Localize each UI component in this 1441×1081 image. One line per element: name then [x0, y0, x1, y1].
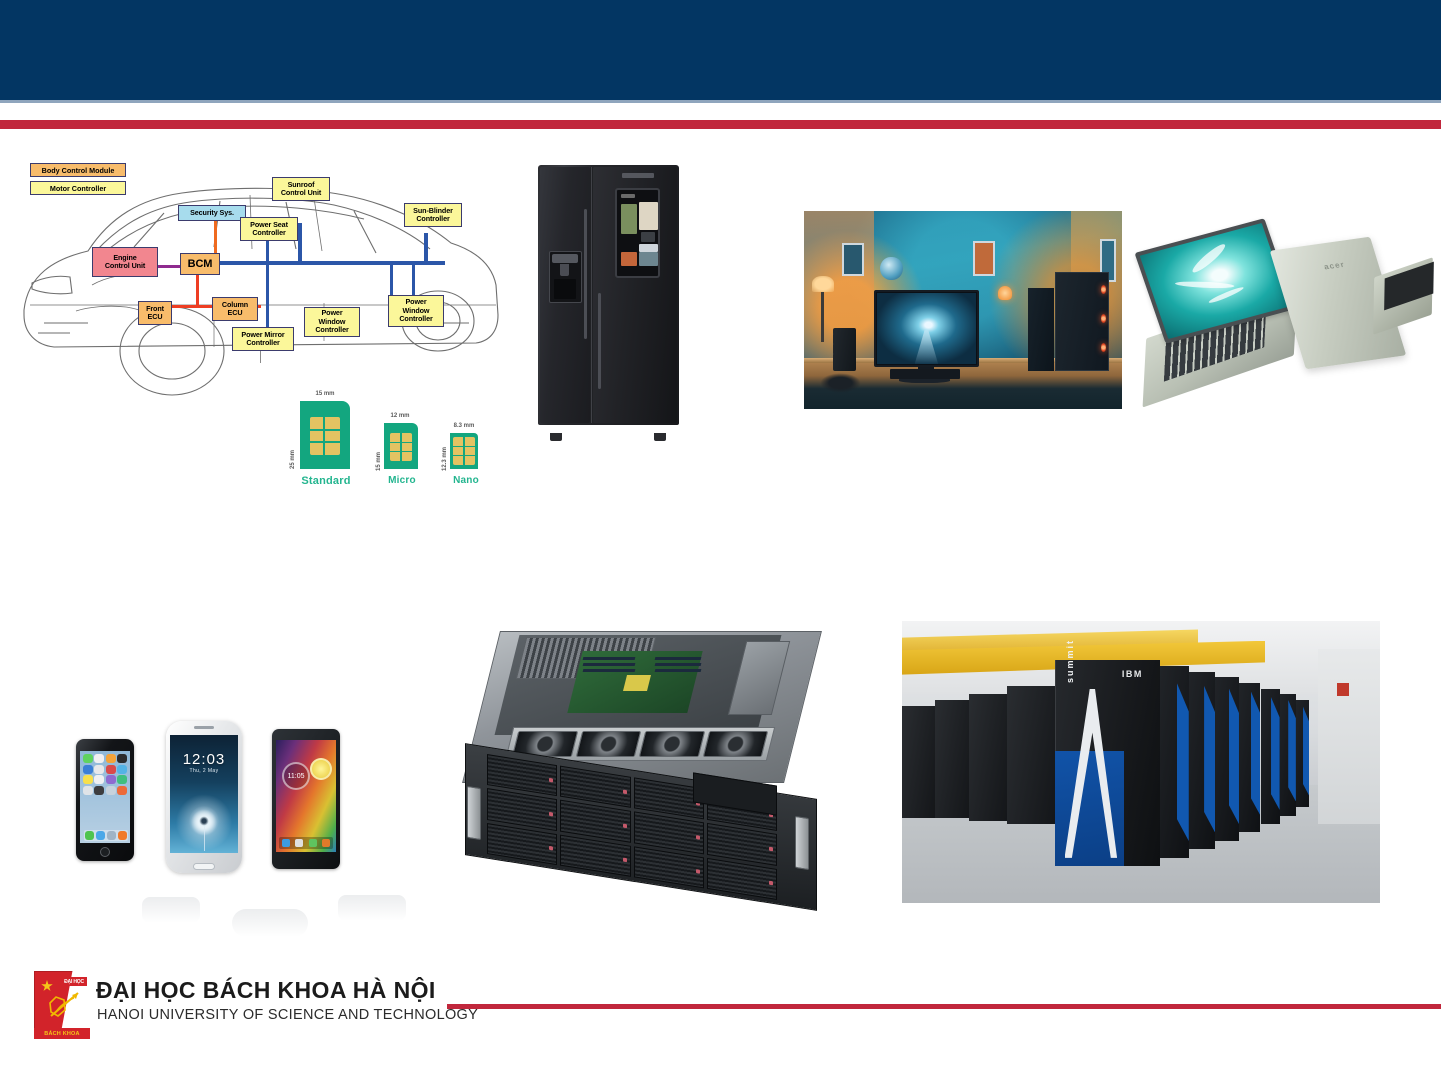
node-label: BCM [188, 260, 213, 268]
refrigerator-foot-right [654, 433, 666, 441]
phone-reflection [338, 895, 406, 921]
header-band-edge [0, 100, 1441, 103]
wallpaper-wisp [1190, 241, 1228, 275]
rgb-case-fan-bottom [1101, 343, 1106, 352]
wallpaper-wisp [1175, 281, 1234, 290]
sim-standard-width-label: 15 mm [296, 391, 354, 397]
wallpaper-wisp [1208, 285, 1245, 304]
figure-rack-server [443, 621, 821, 903]
dock-icon-apps [295, 839, 303, 847]
figure-gaming-pc-setup [804, 211, 1122, 409]
refrigerator-foot-left [550, 433, 562, 441]
phone-iphone-5 [76, 739, 134, 861]
figure-smart-refrigerator [528, 163, 690, 438]
speaker-woofer [833, 353, 834, 355]
chip-trace [310, 441, 340, 443]
app-icon [83, 765, 93, 774]
dock-icon-messages [309, 839, 317, 847]
sim-label-standard: Standard [288, 475, 364, 487]
legend-label: Motor Controller [50, 184, 106, 193]
app-icon [117, 786, 127, 795]
app-icon [83, 786, 93, 795]
node-label-line2: Control Unit [105, 262, 145, 270]
logo-dai-hoc-badge: ĐẠI HỌC [61, 977, 87, 986]
background-rack [1007, 686, 1055, 824]
app-icon [94, 786, 104, 795]
app-icon [106, 786, 116, 795]
node-label-line3: Controller [399, 315, 432, 323]
figure-supercomputer: summit IBM [902, 621, 1380, 903]
gaming-headset [820, 373, 861, 393]
chip-trace [310, 429, 340, 431]
wall-picture-frame-right [973, 241, 995, 277]
floor-lamp-pole [821, 292, 824, 342]
razr-homescreen: 11:05 [276, 740, 336, 852]
sim-standard-height-label: 25 mm [290, 450, 296, 469]
exit-sign [1337, 683, 1348, 696]
legend-item-motor-controller: Motor Controller [30, 181, 126, 195]
legend-label: Body Control Module [42, 166, 115, 175]
app-icon [106, 754, 116, 763]
server-fan [575, 731, 641, 757]
can-bus-branch-sunroof [298, 223, 302, 265]
decorative-globe [880, 257, 902, 281]
sim-card-standard [300, 401, 350, 469]
chip-trace [323, 417, 325, 455]
sim-chip [453, 437, 475, 465]
chip-trace [400, 433, 402, 461]
figure-automotive-ecu-diagram: Body Control Module Motor Controller Sec… [14, 155, 514, 405]
node-power-window-controller-rear: Power Window Controller [388, 295, 444, 327]
app-icon [94, 754, 104, 763]
rgb-case-fan-middle [1101, 314, 1106, 323]
background-rack [902, 706, 935, 819]
server-fan [639, 731, 705, 757]
app-icon [94, 765, 104, 774]
sim-micro-height-label: 15 mm [376, 452, 382, 471]
lockscreen-clock: 12:03 [170, 751, 238, 768]
background-rack [935, 700, 968, 818]
dimm-slot [583, 669, 636, 672]
phone-reflection [232, 909, 308, 937]
sim-chip [310, 417, 340, 455]
header-accent-rule [0, 120, 1441, 129]
summit-supercomputer-photo: summit IBM [902, 621, 1380, 903]
sim-card-nano [450, 433, 478, 469]
screen-memo-tile [639, 202, 658, 230]
dimm-slot [655, 663, 702, 666]
monitor-screen-content [877, 293, 976, 364]
logo-bach-khoa-bar: BÁCH KHOA [34, 1028, 90, 1039]
can-bus-branch-sunblinder [424, 233, 428, 265]
iphone-dock [84, 830, 128, 841]
hust-logo: ĐẠI HỌC BÁCH KHOA [34, 971, 90, 1039]
gaming-setup-photo [804, 211, 1122, 409]
screen-camera-tile [641, 232, 655, 242]
samsung-brand-badge [622, 173, 654, 178]
dimm-slot [583, 657, 636, 660]
game-road-graphic [915, 330, 939, 364]
compass-hexagon-emblem-icon [47, 991, 81, 1021]
screen-widget-tile [639, 244, 658, 252]
orange-accent-lamp [998, 286, 1012, 300]
screen-photo-tile [621, 204, 637, 234]
lockscreen-date: Thu, 2 May [170, 768, 238, 774]
sim-card-micro [384, 423, 418, 469]
node-power-window-controller-center: Power Window Controller [304, 307, 360, 337]
dock-icon-mail [96, 831, 105, 840]
app-icon [94, 775, 104, 784]
dock-icon-phone [85, 831, 94, 840]
datacenter-corridor [1318, 649, 1380, 824]
server-fan [702, 731, 768, 757]
dimm-slot [655, 669, 702, 672]
freezer-door-handle[interactable] [584, 209, 587, 339]
sim-nano-width-label: 8.3 mm [444, 423, 484, 429]
dock-icon-browser [322, 839, 330, 847]
sim-label-micro: Micro [376, 475, 428, 486]
fridge-door-handle[interactable] [598, 293, 601, 389]
gaming-pc-tower [1055, 272, 1109, 371]
sim-nano-height-label: 12.3 mm [442, 447, 448, 471]
rgb-case-fan-top [1101, 285, 1106, 294]
razr-weather-widget [310, 758, 332, 780]
university-name-vietnamese: ĐẠI HỌC BÁCH KHOA HÀ NỘI [96, 977, 436, 1004]
gaming-monitor [874, 290, 979, 367]
presentation-slide: Body Control Module Motor Controller Sec… [0, 0, 1441, 1081]
dispenser-well [554, 279, 576, 299]
app-icon [106, 765, 116, 774]
speaker-tweeter [833, 333, 834, 335]
galaxy-home-button[interactable] [193, 863, 215, 870]
node-label-line2: ECU [148, 313, 163, 321]
screen-app-tile-orange [621, 252, 637, 266]
iphone-home-button[interactable] [100, 847, 110, 857]
legend-item-body-control-module: Body Control Module [30, 163, 126, 177]
node-front-ecu: Front ECU [138, 301, 172, 325]
dandelion-wallpaper [189, 806, 219, 836]
chip-trace [463, 437, 465, 465]
figure-laptops: acer [1140, 215, 1430, 415]
summit-wordmark: summit [1065, 639, 1075, 683]
node-label-line2: Controller [416, 215, 449, 223]
app-icon [117, 775, 127, 784]
screen-status-bar [621, 194, 635, 198]
node-power-mirror-controller: Power Mirror Controller [232, 327, 294, 351]
figure-sim-card-sizes: 15 mm 25 mm Standard 12 mm 15 mm [272, 391, 502, 501]
node-label-line3: Controller [315, 326, 348, 334]
cpu-socket [623, 675, 651, 691]
node-sun-blinder-controller: Sun-Blinder Controller [404, 203, 462, 227]
earpiece-speaker [194, 726, 214, 729]
background-rack [969, 694, 1007, 821]
app-icon [117, 754, 127, 763]
dock-icon-phone [282, 839, 290, 847]
app-icon [106, 775, 116, 784]
node-sunroof-control-unit: Sunroof Control Unit [272, 177, 330, 201]
floor-lamp-shade [812, 276, 834, 292]
slide-content: Body Control Module Motor Controller Sec… [0, 133, 1441, 963]
node-security-sys: Security Sys. [178, 205, 246, 221]
galaxy-lockscreen: 12:03 Thu, 2 May [170, 735, 238, 853]
ibm-logo: IBM [1122, 669, 1143, 679]
app-icon [83, 754, 93, 763]
node-engine-control-unit: Engine Control Unit [92, 247, 158, 277]
can-bus-branch-window-rear [412, 261, 415, 297]
node-label: Security Sys. [190, 209, 234, 217]
dimm-slot [583, 663, 636, 666]
node-power-seat-controller: Power Seat Controller [240, 217, 298, 241]
node-label-line2: Controller [246, 339, 279, 347]
app-icon [83, 775, 93, 784]
dock-icon-music [118, 831, 127, 840]
refrigerator-touchscreen[interactable] [615, 188, 660, 278]
sim-micro-width-label: 12 mm [378, 413, 422, 419]
dispenser-control-panel[interactable] [552, 254, 578, 263]
secondary-pc-tower [1028, 288, 1053, 371]
sim-label-nano: Nano [442, 475, 490, 486]
node-label-line2: Controller [252, 229, 285, 237]
rack-ear-handle-right[interactable] [795, 816, 809, 870]
app-icon [117, 765, 127, 774]
university-name-english: HANOI UNIVERSITY OF SCIENCE AND TECHNOLO… [97, 1007, 478, 1023]
phone-reflection [142, 897, 200, 923]
header-band [0, 0, 1441, 100]
footer-accent-rule [447, 1004, 1441, 1009]
rack-ear-handle-left[interactable] [467, 786, 481, 840]
wall-picture-frame-left [842, 243, 864, 277]
sim-chip [390, 433, 412, 461]
razr-dock [279, 837, 333, 849]
razr-clock-widget: 11:05 [282, 762, 310, 790]
desktop-speaker [833, 328, 857, 372]
gaming-keyboard [890, 369, 960, 379]
phone-galaxy-s3: 12:03 Thu, 2 May [166, 721, 242, 873]
screen-app-tile-blue [639, 252, 658, 266]
node-label-line2: Control Unit [281, 189, 321, 197]
can-bus-main [205, 261, 445, 265]
refrigerator-door-gap [590, 167, 593, 423]
speaker-mid [833, 343, 834, 345]
iphone-homescreen [80, 751, 130, 843]
node-bcm: BCM [180, 253, 220, 275]
dimm-slot [655, 657, 702, 660]
node-column-ecu: Column ECU [212, 297, 258, 321]
slide-footer: ĐẠI HỌC BÁCH KHOA ĐẠI HỌC BÁCH KHOA HÀ N… [0, 963, 1441, 1081]
dispenser-nozzle [560, 264, 569, 276]
server-chassis [465, 631, 807, 881]
node-label-line2: ECU [228, 309, 243, 317]
dock-icon-safari [107, 831, 116, 840]
phone-droid-razr: 11:05 [272, 729, 340, 869]
can-bus-branch-seat [266, 241, 269, 327]
